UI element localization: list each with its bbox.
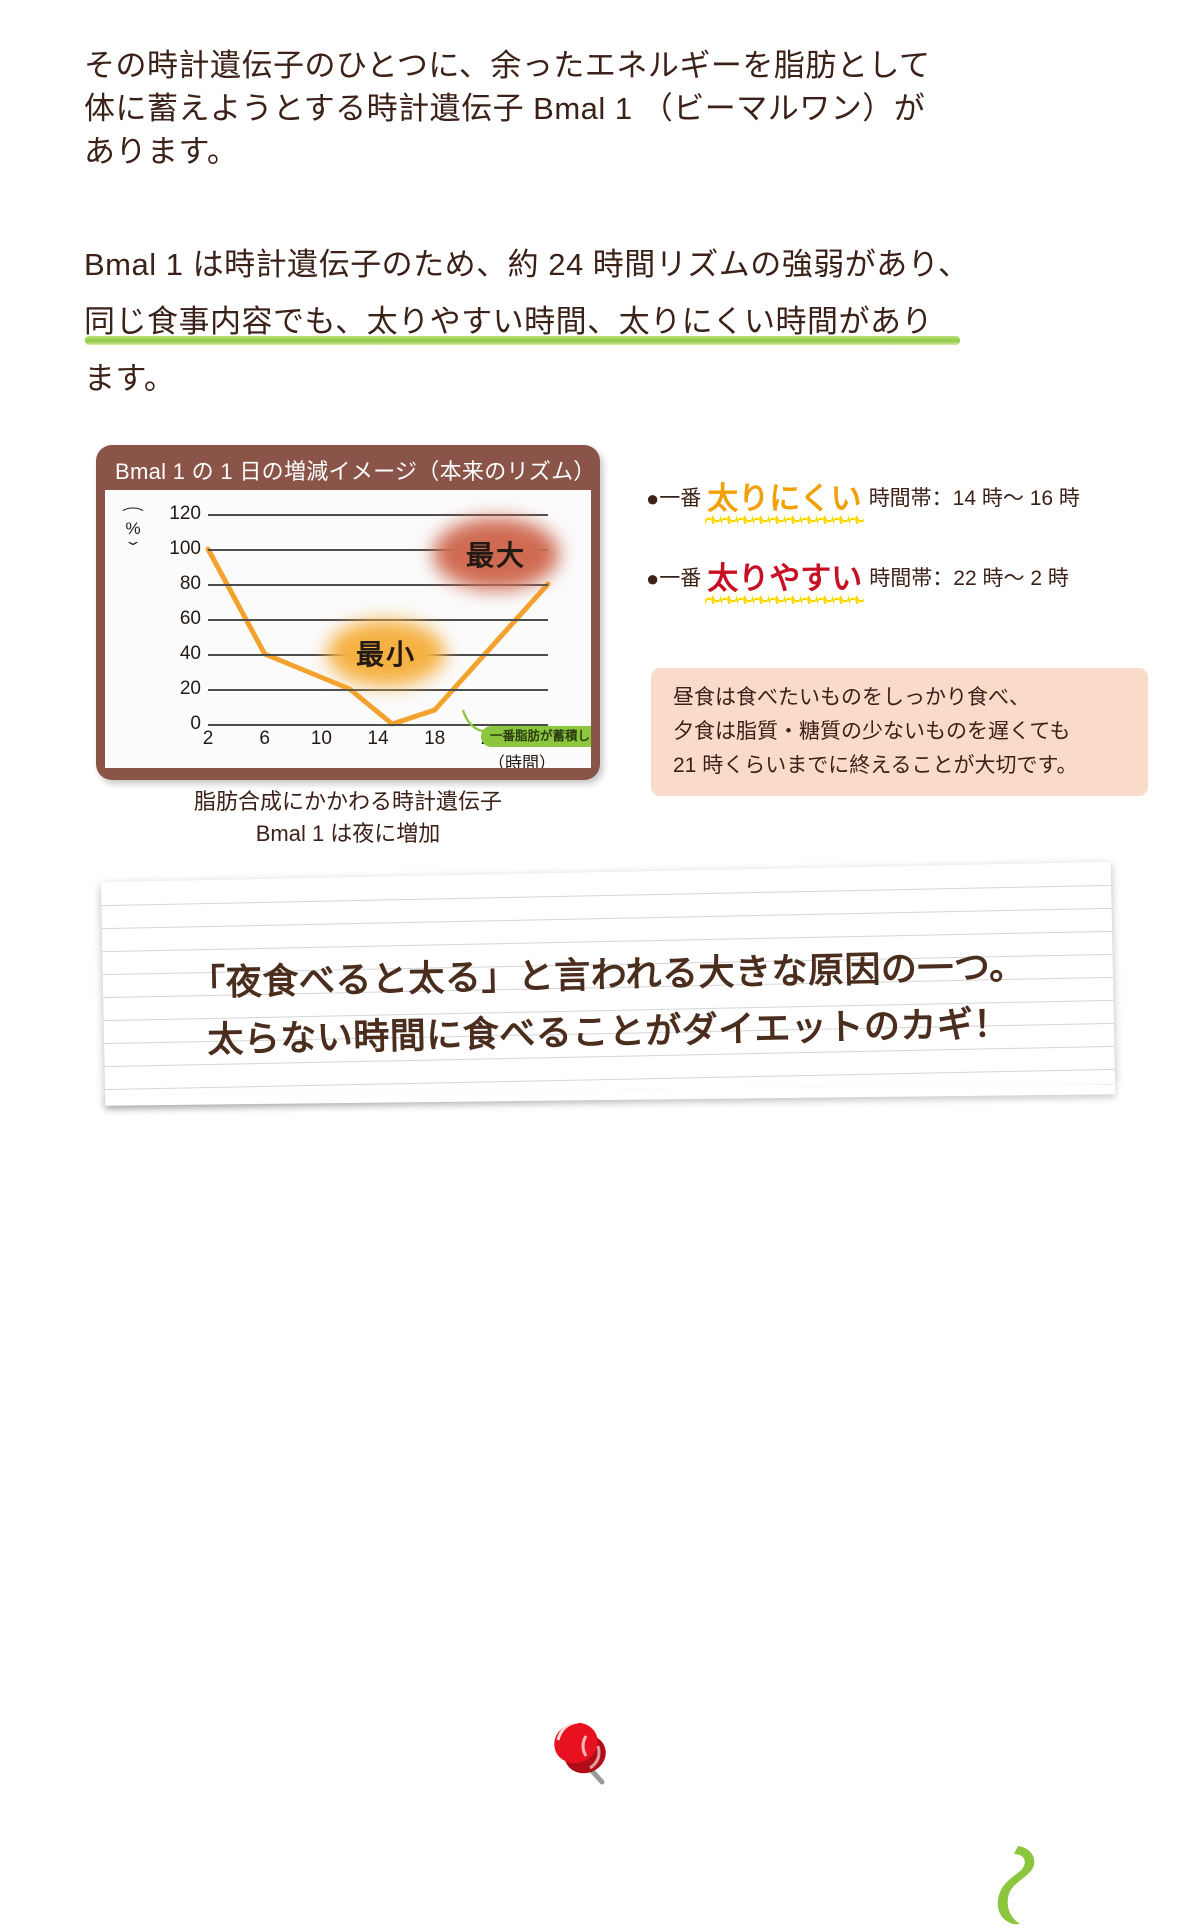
bullet-easiest-not-to-gain: ● 一番 太りにくい 時間帯：14 時〜 16 時 — [646, 482, 1080, 516]
chart-caption-line-1: 脂肪合成にかかわる時計遺伝子 — [96, 786, 600, 818]
y-axis-tick-label: 120 — [141, 504, 201, 524]
max-annotation: 最大 — [433, 518, 559, 590]
bullet-2-emphasis: 太りやすい — [705, 562, 864, 596]
wavy-underline-icon — [705, 596, 864, 604]
y-axis-tick-label: 20 — [141, 679, 201, 699]
bullet-1-suffix: 時間帯：14 時〜 16 時 — [869, 482, 1080, 516]
paper-note-section: 「夜食べると太る」と言われる大きな原因の一つ。 太らない時間に食べることがダイエ… — [0, 858, 1200, 1136]
x-axis-tick-label: 10 — [311, 728, 332, 750]
advice-note-box: 昼食は食べたいものをしっかり食べ、 夕食は脂質・糖質の少ないものを遅くても 21… — [651, 668, 1148, 796]
paper-note-text: 「夜食べると太る」と言われる大きな原因の一つ。 太らない時間に食べることがダイエ… — [102, 936, 1114, 1070]
chart-caption-line-2: Bmal 1 は夜に増加 — [96, 818, 600, 850]
intro-p1-line-1: その時計遺伝子のひとつに、余ったエネルギーを脂肪として — [84, 44, 1084, 87]
fat-storage-badge: 一番脂肪が蓄積しにくい時間帯 — [481, 726, 591, 747]
intro-paragraph-2: Bmal 1 は時計遺伝子のため、約 24 時間リズムの強弱があり、 同じ食事内… — [84, 236, 1114, 407]
min-annotation: 最小 — [327, 620, 445, 686]
advice-line-3: 21 時くらいまでに終えることが大切です。 — [673, 749, 1126, 783]
x-axis-tick-label: 2 — [203, 728, 214, 750]
x-axis-unit-label: （時間） — [488, 749, 556, 768]
chart-caption: 脂肪合成にかかわる時計遺伝子 Bmal 1 は夜に増加 — [96, 786, 600, 850]
bullet-2-suffix: 時間帯：22 時〜 2 時 — [869, 562, 1069, 596]
green-key-accent-icon — [988, 1842, 1046, 1928]
intro-paragraph-1: その時計遺伝子のひとつに、余ったエネルギーを脂肪として 体に蓄えようとする時計遺… — [84, 44, 1084, 173]
paper-rule-line — [105, 1069, 1115, 1090]
bullet-1-emphasis: 太りにくい — [705, 482, 863, 516]
bullet-dot-icon: ● — [646, 562, 659, 596]
gridline — [208, 514, 548, 516]
chart-title: Bmal 1 の 1 日の増減イメージ（本来のリズム） — [105, 454, 591, 490]
min-annotation-label: 最小 — [356, 633, 416, 673]
paper-rule-line — [101, 885, 1111, 906]
y-axis-tick-label: 60 — [141, 609, 201, 629]
green-highlight-underline — [85, 336, 960, 345]
bullet-easiest-to-gain: ● 一番 太りやすい 時間帯：22 時〜 2 時 — [646, 562, 1069, 596]
bullet-1-emphasis-text: 太りにくい — [707, 481, 861, 516]
intro-p2-line-1: Bmal 1 は時計遺伝子のため、約 24 時間リズムの強弱があり、 — [84, 236, 1114, 293]
x-axis-tick-label: 18 — [424, 728, 445, 750]
y-axis-tick-label: 80 — [141, 574, 201, 594]
chart-plot-area: ⌒ % ⌄ 120100806040200 26101418222 （時間） 最… — [105, 490, 591, 768]
chart-card: Bmal 1 の 1 日の増減イメージ（本来のリズム） ⌒ % ⌄ 120100… — [96, 445, 600, 780]
x-axis-tick-label: 14 — [367, 728, 388, 750]
gridline — [208, 689, 548, 691]
wavy-underline-icon — [705, 516, 863, 524]
y-axis-tick-label: 0 — [141, 714, 201, 734]
paper-rule-line — [102, 908, 1112, 929]
y-axis-tick-label: 40 — [141, 644, 201, 664]
advice-line-2: 夕食は脂質・糖質の少ないものを遅くても — [673, 715, 1126, 749]
x-axis-tick-label: 6 — [259, 728, 270, 750]
intro-p2-line-3: ます。 — [84, 350, 1114, 407]
advice-line-1: 昼食は食べたいものをしっかり食べ、 — [673, 681, 1126, 715]
bullet-dot-icon: ● — [646, 482, 659, 516]
bullet-1-prefix: 一番 — [659, 482, 701, 516]
bullet-2-emphasis-text: 太りやすい — [707, 561, 862, 596]
max-annotation-label: 最大 — [466, 534, 526, 574]
bullet-2-prefix: 一番 — [659, 562, 701, 596]
intro-p1-line-3: あります。 — [84, 130, 1084, 173]
intro-p1-line-2: 体に蓄えようとする時計遺伝子 Bmal 1 （ビーマルワン）が — [84, 87, 1084, 130]
y-axis-tick-label: 100 — [141, 539, 201, 559]
red-pushpin-icon — [540, 1710, 626, 1796]
